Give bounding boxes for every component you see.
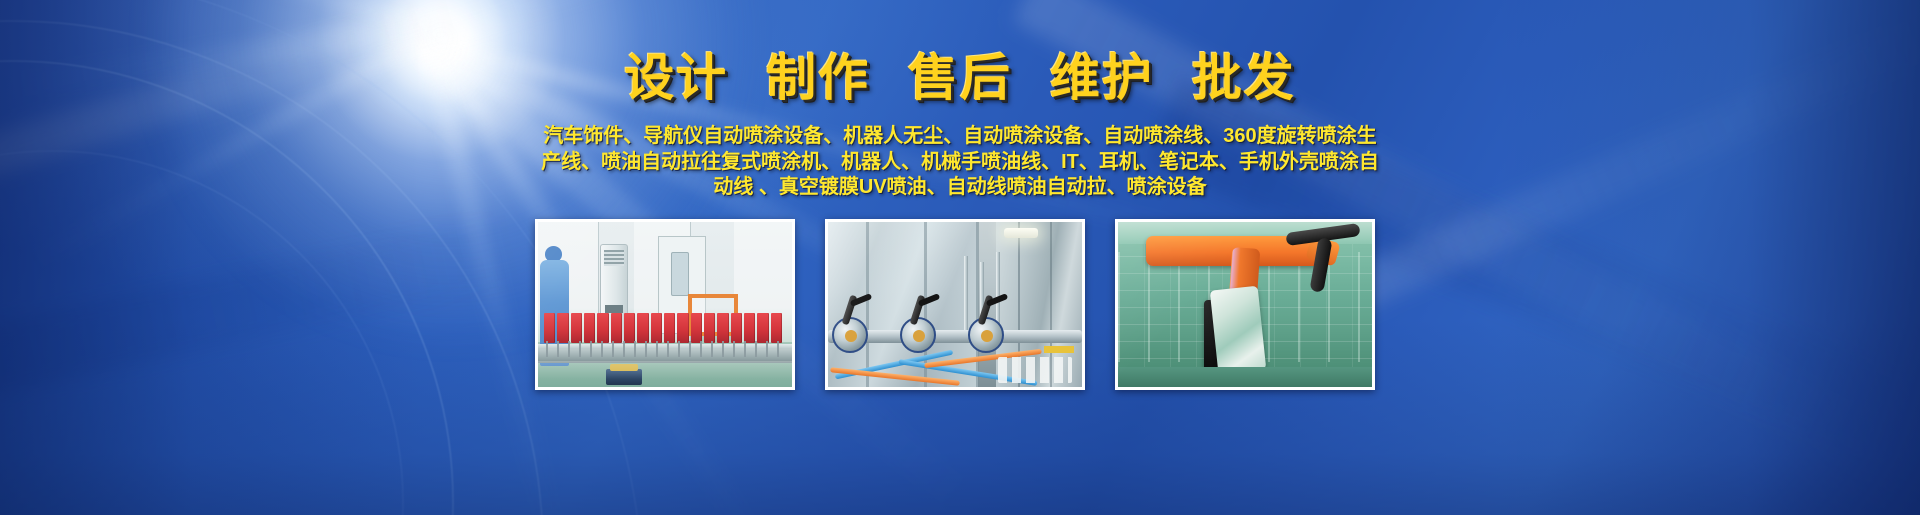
photo-1-image — [538, 222, 792, 387]
photo-robot-arm-coating[interactable] — [1115, 219, 1375, 390]
photo-cleanroom-conveyor-line[interactable] — [535, 219, 795, 390]
ac-panel — [605, 305, 623, 313]
headline-word-aftersales: 售后 — [908, 50, 1012, 106]
red-workpiece — [637, 313, 648, 343]
photo-3-image — [1118, 222, 1372, 387]
red-workpiece — [731, 313, 742, 343]
red-workpiece — [597, 313, 608, 343]
spray-gun-head — [900, 317, 936, 353]
ac-grill — [604, 250, 624, 266]
red-workpiece-row — [544, 313, 782, 343]
headline-word-maintenance: 维护 — [1050, 50, 1154, 106]
red-workpiece — [611, 313, 622, 343]
promo-banner: 设计 制作 售后 维护 批发 汽车饰件、导航仪自动喷涂设备、机器人无尘、自动喷涂… — [0, 0, 1920, 515]
red-workpiece — [651, 313, 662, 343]
subtext-line-2: 产线、喷油自动拉往复式喷涂机、机器人、机械手喷油线、IT、耳机、笔记本、手机外壳… — [540, 150, 1380, 176]
red-workpiece — [544, 313, 555, 343]
photo-gallery — [535, 219, 1385, 390]
banner-content: 设计 制作 售后 维护 批发 汽车饰件、导航仪自动喷涂设备、机器人无尘、自动喷涂… — [0, 0, 1920, 515]
hanger-pegs — [546, 341, 782, 357]
banner-subtext: 汽车饰件、导航仪自动喷涂设备、机器人无尘、自动喷涂设备、自动喷涂线、360度旋转… — [540, 124, 1380, 201]
floor-reflection — [538, 361, 792, 387]
red-workpiece — [677, 313, 688, 343]
subtext-line-3: 动线 、真空镀膜UV喷油、自动线喷油自动拉、喷涂设备 — [540, 175, 1380, 201]
red-workpiece — [584, 313, 595, 343]
photo-2-image — [828, 222, 1082, 387]
red-workpiece — [757, 313, 768, 343]
spray-gun — [832, 299, 876, 353]
spray-gun — [968, 299, 1012, 353]
yellow-floor-marking — [1044, 346, 1074, 353]
door-window — [671, 252, 689, 296]
headline-word-manufacture: 制作 — [766, 50, 870, 106]
red-workpiece — [557, 313, 568, 343]
headline-word-design: 设计 — [624, 50, 728, 106]
spray-gun-head — [832, 317, 868, 353]
booth-floor — [1118, 367, 1372, 387]
ceiling-lamp-icon — [1004, 228, 1038, 238]
red-workpiece — [771, 313, 782, 343]
red-workpiece — [624, 313, 635, 343]
white-parts-on-floor — [998, 357, 1072, 383]
red-workpiece — [717, 313, 728, 343]
coated-workpiece — [1210, 286, 1267, 375]
subtext-line-1: 汽车饰件、导航仪自动喷涂设备、机器人无尘、自动喷涂设备、自动喷涂线、360度旋转… — [540, 124, 1380, 150]
red-workpiece — [664, 313, 675, 343]
red-workpiece — [691, 313, 702, 343]
photo-spray-guns-booth[interactable] — [825, 219, 1085, 390]
red-workpiece — [571, 313, 582, 343]
spray-gun — [900, 299, 944, 353]
red-workpiece — [744, 313, 755, 343]
red-workpiece — [704, 313, 715, 343]
spray-gun-head — [968, 317, 1004, 353]
banner-headline: 设计 制作 售后 维护 批发 — [0, 50, 1920, 106]
headline-word-wholesale: 批发 — [1192, 50, 1296, 106]
